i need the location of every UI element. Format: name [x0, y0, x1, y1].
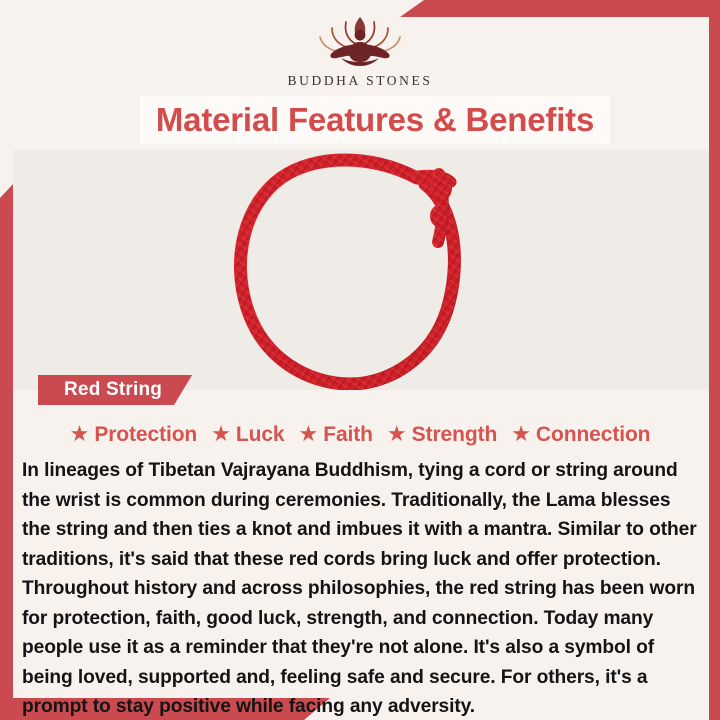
star-icon: ★ [211, 423, 231, 445]
product-name-label: Red String [64, 379, 162, 401]
benefit-item: ★ Connection [511, 423, 650, 447]
brand-name: BUDDHA STONES [288, 73, 433, 89]
description-paragraph: In lineages of Tibetan Vajrayana Buddhis… [22, 456, 698, 720]
brand-logo: BUDDHA STONES [0, 14, 720, 89]
title-panel: Material Features & Benefits [140, 96, 610, 144]
benefit-label: Faith [323, 423, 373, 447]
star-icon: ★ [511, 423, 531, 445]
benefit-label: Luck [236, 423, 285, 447]
benefits-row: ★ Protection ★ Luck ★ Faith ★ Strength ★… [0, 418, 720, 452]
left-red-stripe [0, 184, 13, 720]
benefit-item: ★ Protection [70, 423, 198, 447]
header: BUDDHA STONES Material Features & Benefi… [0, 0, 720, 150]
star-icon: ★ [70, 423, 90, 445]
red-braided-string-bracelet [211, 150, 511, 390]
page-title: Material Features & Benefits [156, 101, 594, 139]
benefit-label: Connection [536, 423, 651, 447]
lotus-meditation-figure-icon [301, 14, 419, 70]
benefit-label: Strength [412, 423, 498, 447]
bottom-right-red-accent [709, 678, 720, 720]
product-name-tag: Red String [38, 375, 192, 405]
benefit-item: ★ Strength [387, 423, 497, 447]
product-photo [13, 150, 709, 390]
benefit-label: Protection [94, 423, 197, 447]
benefit-item: ★ Luck [211, 423, 284, 447]
infographic-page: BUDDHA STONES Material Features & Benefi… [0, 0, 720, 720]
benefit-item: ★ Faith [299, 423, 373, 447]
star-icon: ★ [299, 423, 319, 445]
star-icon: ★ [387, 423, 407, 445]
